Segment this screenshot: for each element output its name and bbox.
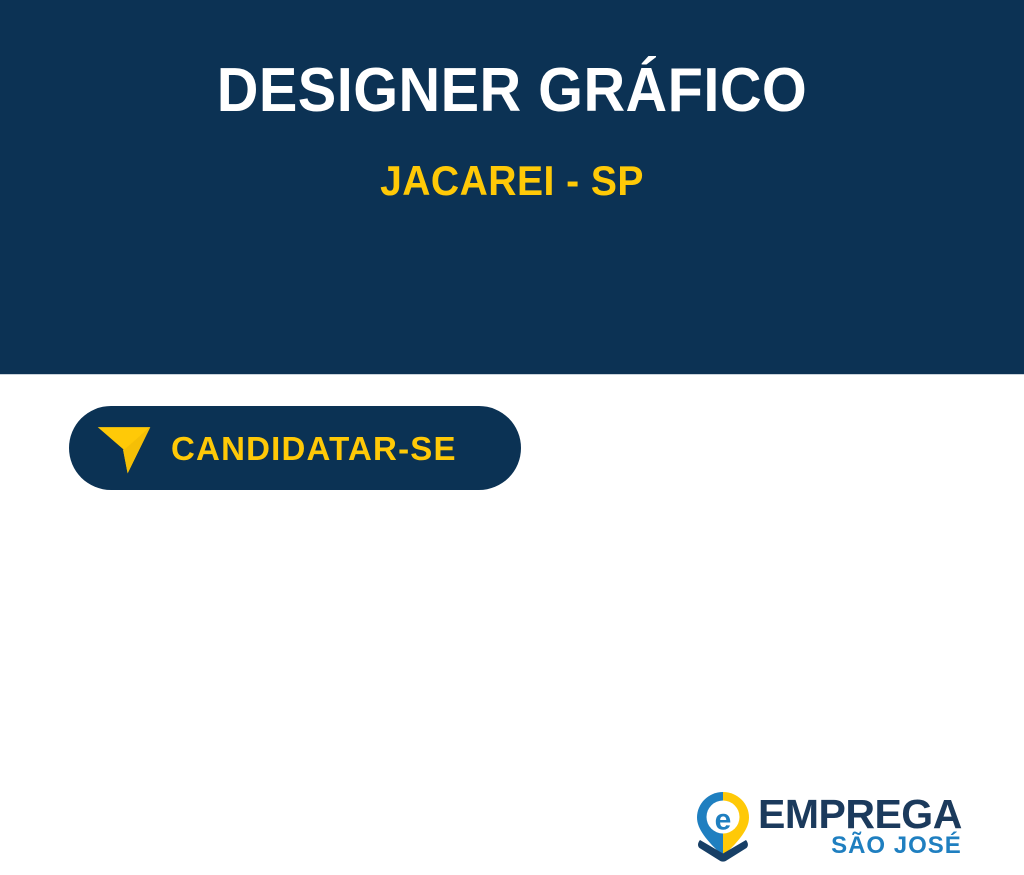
map-pin-e-icon: e xyxy=(694,790,752,862)
candidatar-se-label: CANDIDATAR-SE xyxy=(171,432,457,465)
footer-action-bar: CANDIDATAR-SE e EMPREGA xyxy=(0,375,1024,538)
emprega-sao-jose-logo: e EMPREGA SÃO JOSÉ xyxy=(694,790,934,875)
brand-subtitle: SÃO JOSÉ xyxy=(831,833,962,859)
hero-section: DESIGNER GRÁFICO JACAREI - SP xyxy=(0,0,1024,375)
svg-text:e: e xyxy=(715,804,732,837)
send-paper-plane-icon xyxy=(95,419,153,477)
brand-name: EMPREGA xyxy=(758,793,962,835)
candidatar-se-button[interactable]: CANDIDATAR-SE xyxy=(69,406,521,490)
brand-wordmark: EMPREGA SÃO JOSÉ xyxy=(758,790,962,859)
job-location: JACAREI - SP xyxy=(36,126,988,204)
job-vacancy-banner: DESIGNER GRÁFICO JACAREI - SP CANDIDATAR… xyxy=(0,0,1024,538)
job-title: DESIGNER GRÁFICO xyxy=(36,56,988,126)
